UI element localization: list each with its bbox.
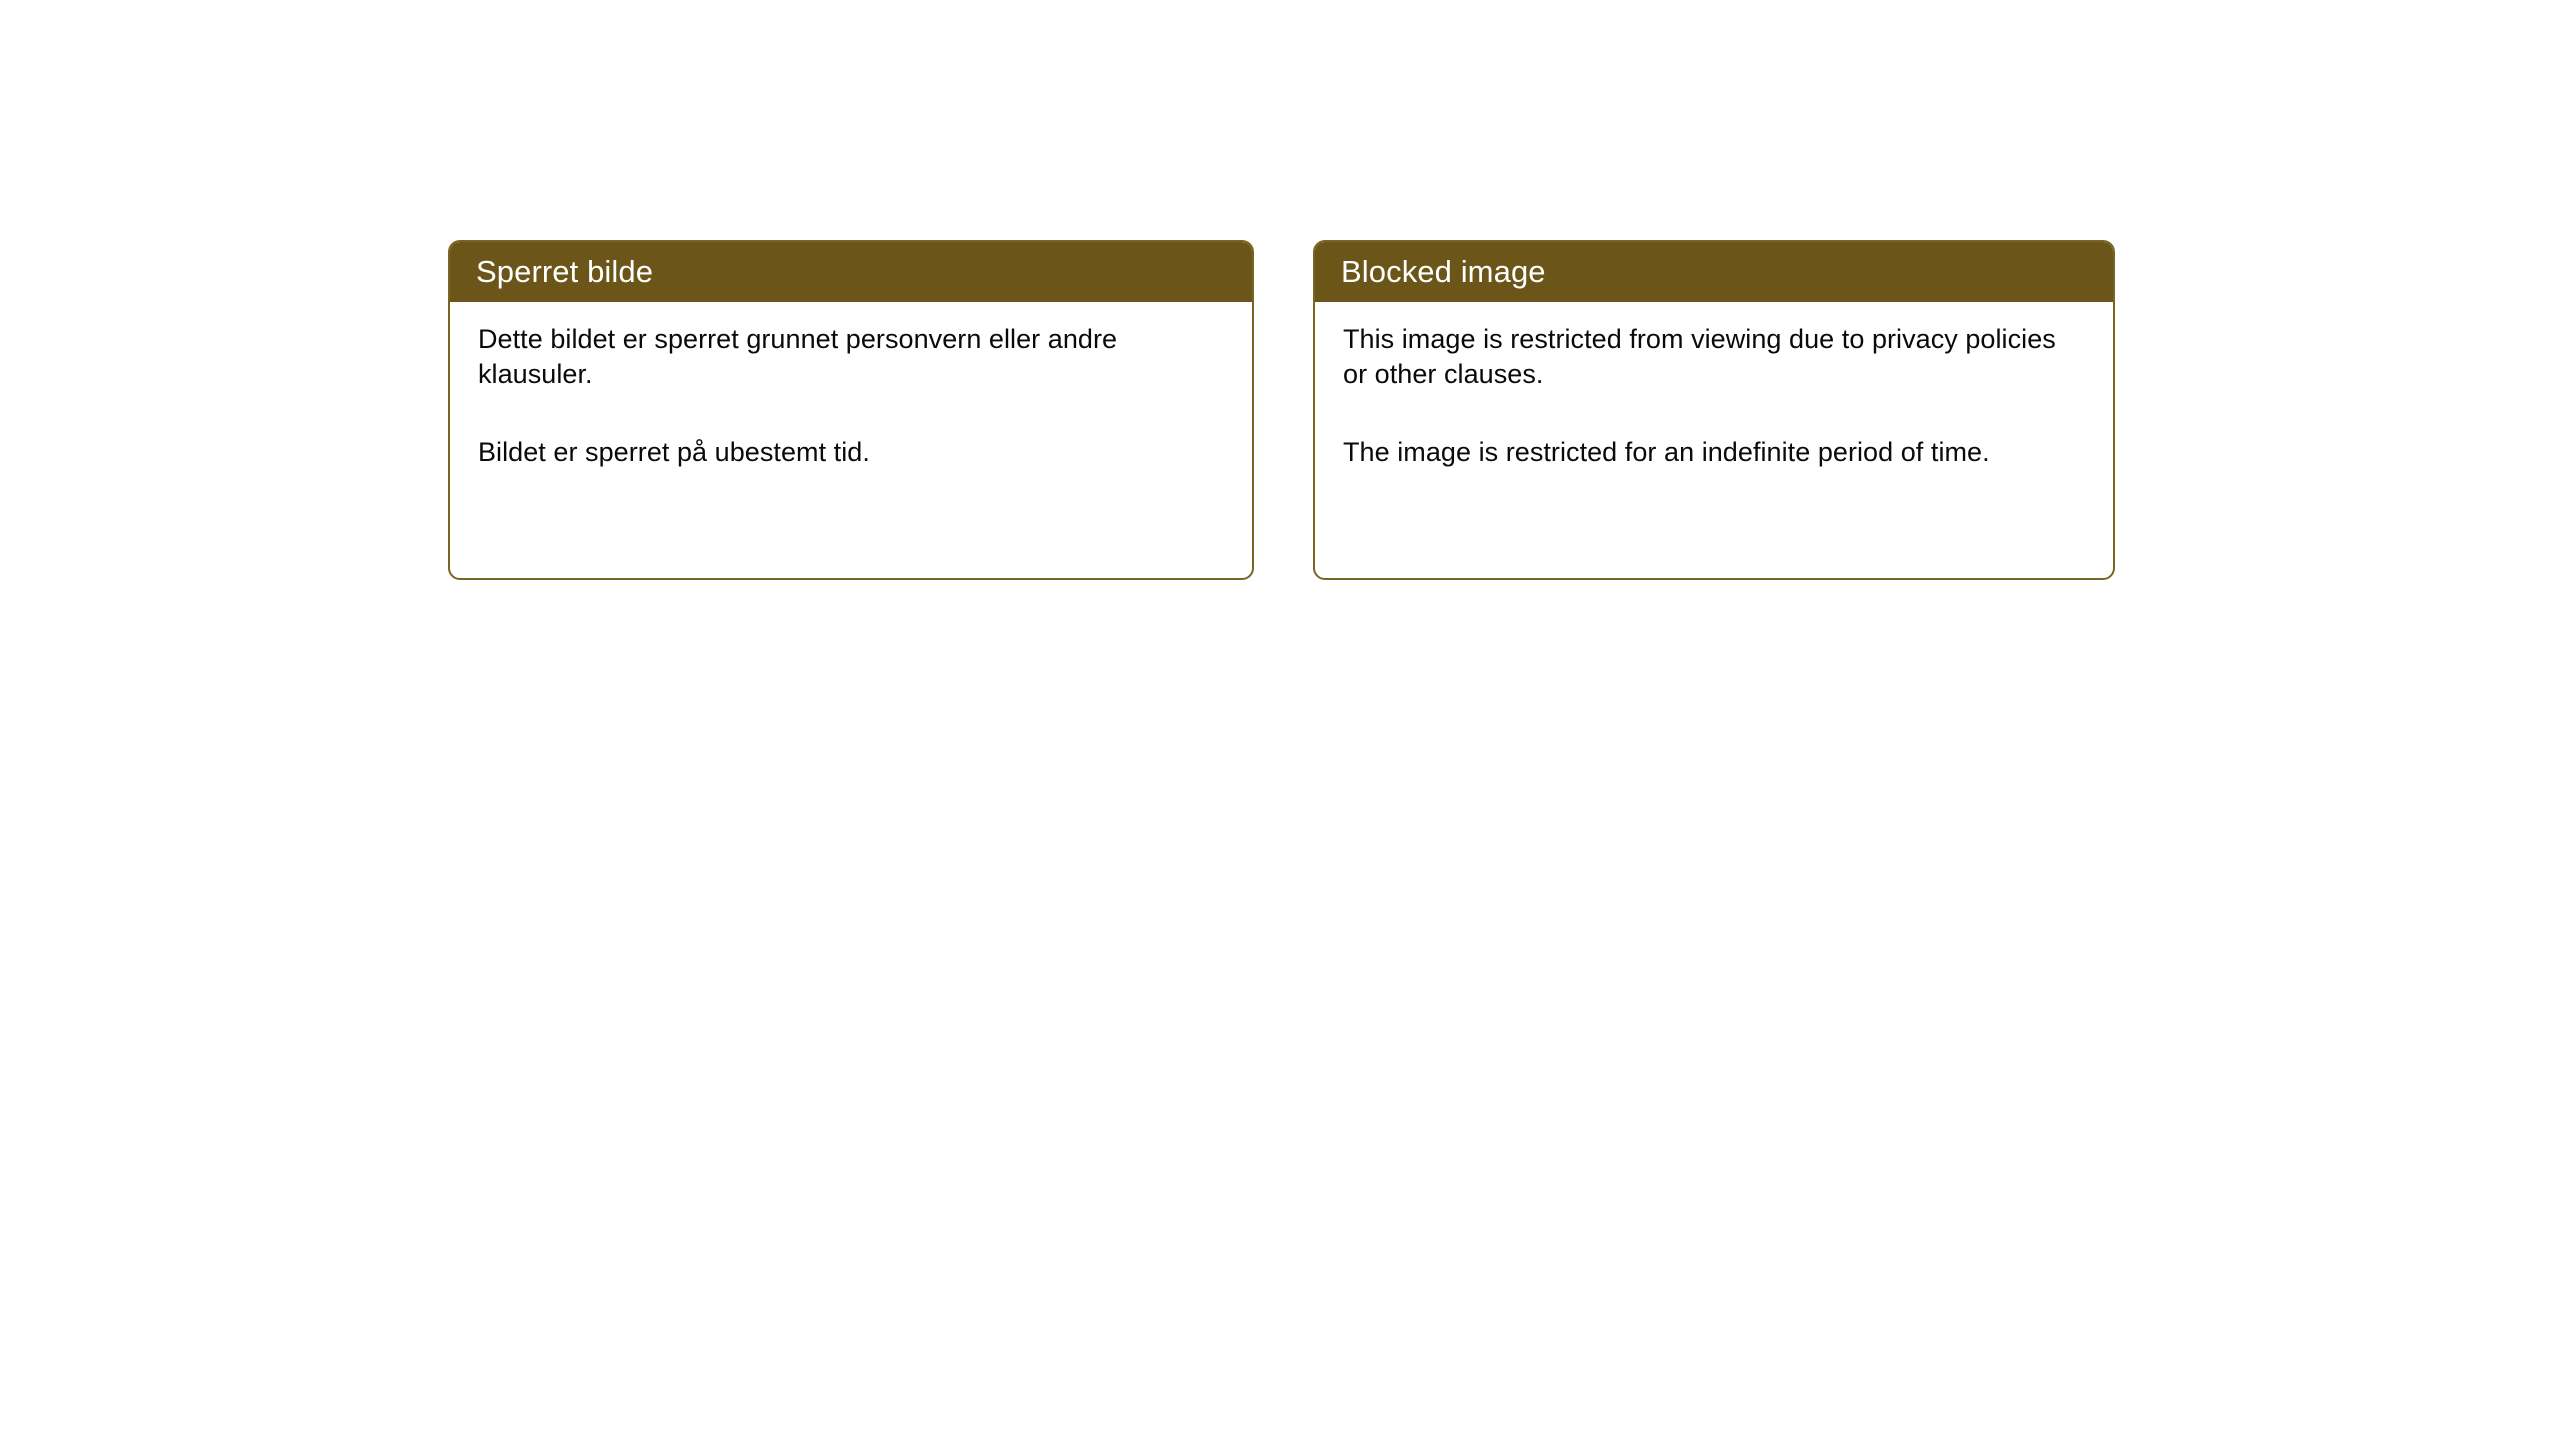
card-header-norwegian: Sperret bilde: [448, 240, 1254, 302]
card-body-english: This image is restricted from viewing du…: [1315, 302, 2113, 470]
blocked-image-notice-english: Blocked image This image is restricted f…: [1313, 240, 2115, 580]
card-body-norwegian: Dette bildet er sperret grunnet personve…: [450, 302, 1252, 470]
card-title-norwegian: Sperret bilde: [476, 256, 653, 287]
card-paragraph-reason-english: This image is restricted from viewing du…: [1343, 322, 2087, 392]
card-title-english: Blocked image: [1341, 256, 1546, 287]
card-paragraph-reason-norwegian: Dette bildet er sperret grunnet personve…: [478, 322, 1226, 392]
blocked-image-notice-norwegian: Sperret bilde Dette bildet er sperret gr…: [448, 240, 1254, 580]
card-paragraph-duration-english: The image is restricted for an indefinit…: [1343, 435, 2087, 470]
page-canvas: Sperret bilde Dette bildet er sperret gr…: [0, 0, 2560, 1440]
card-paragraph-duration-norwegian: Bildet er sperret på ubestemt tid.: [478, 435, 1226, 470]
card-header-english: Blocked image: [1313, 240, 2115, 302]
